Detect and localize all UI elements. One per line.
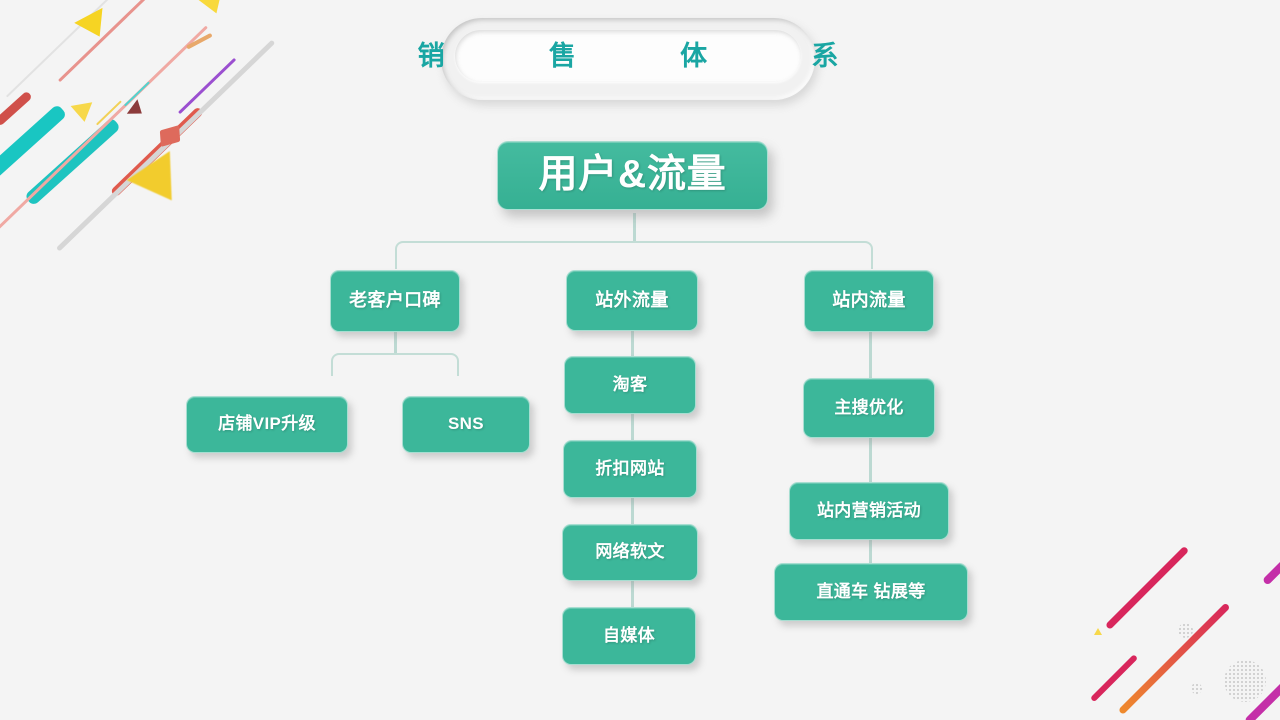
deco-stroke-red-1: [110, 106, 204, 197]
deco-stroke-red-short: [0, 91, 33, 127]
connector-mid-3: [631, 498, 634, 524]
deco-stroke-cyan-2: [24, 117, 121, 206]
node-store-vip-upgrade[interactable]: 店铺VIP升级: [186, 396, 348, 453]
deco-stroke-cyan-thin: [124, 81, 150, 106]
deco-stroke-pink-long-2: [58, 0, 190, 82]
node-sns[interactable]: SNS: [402, 396, 530, 453]
connector-branch1-bracket: [331, 353, 459, 376]
deco-stroke-crimson-1: [1105, 546, 1189, 630]
deco-stroke-magenta-2: [1244, 676, 1280, 720]
deco-stroke-pink-long-1: [0, 26, 208, 237]
deco-stroke-yellow-thin: [96, 100, 122, 125]
deco-triangle-yellow-br: [1094, 628, 1102, 635]
node-onsite-marketing-activities[interactable]: 站内营销活动: [789, 482, 949, 540]
deco-triangle-yellow-1: [74, 8, 114, 44]
node-label: 站外流量: [595, 290, 668, 311]
node-root[interactable]: 用户&流量: [497, 141, 768, 210]
deco-stroke-gray-long: [56, 40, 275, 252]
deco-dotted-circle-small: [1178, 623, 1193, 638]
node-label: 折扣网站: [595, 459, 664, 479]
title-inner-pill: 销 售 体 系: [455, 30, 801, 82]
deco-dotted-circle-tiny: [1191, 683, 1202, 694]
node-label: 站内营销活动: [817, 501, 921, 521]
node-label: 网络软文: [595, 542, 664, 562]
connector-branch1-stem: [394, 332, 397, 354]
deco-stroke-orange-thin: [186, 33, 213, 50]
connector-mid-2: [631, 414, 634, 440]
node-root-label: 用户&流量: [538, 152, 726, 198]
connector-right-3: [869, 540, 872, 564]
node-branch-onsite-traffic[interactable]: 站内流量: [804, 270, 934, 332]
deco-dotted-circle-large: [1224, 660, 1266, 702]
page-title: 销 售 体 系: [401, 43, 855, 70]
node-label: 淘客: [613, 375, 648, 395]
node-label: 店铺VIP升级: [218, 414, 316, 434]
node-label: SNS: [448, 414, 484, 434]
connector-right-1: [869, 332, 872, 378]
deco-triangle-yellow-large: [127, 151, 194, 215]
node-branch-old-customer-wom[interactable]: 老客户口碑: [330, 270, 460, 332]
deco-quad-red: [160, 125, 180, 147]
deco-stroke-cyan-1: [0, 104, 67, 179]
node-branch-offsite-traffic[interactable]: 站外流量: [566, 270, 698, 331]
connector-mid-4: [631, 581, 634, 607]
deco-stroke-purple: [178, 58, 236, 114]
node-self-media[interactable]: 自媒体: [562, 607, 696, 665]
deco-stroke-magenta: [1262, 549, 1280, 586]
connector-mid-1: [631, 331, 634, 357]
node-label: 老客户口碑: [349, 290, 441, 311]
connector-root-stem: [633, 213, 636, 242]
deco-triangle-yellow-3: [71, 102, 96, 124]
node-label: 自媒体: [603, 626, 655, 646]
page-title-pill: 销 售 体 系: [441, 18, 815, 100]
deco-stroke-gray-thin: [6, 0, 144, 97]
node-main-search-optimization[interactable]: 主搜优化: [803, 378, 935, 438]
deco-triangle-darkred: [127, 99, 147, 121]
node-taoke[interactable]: 淘客: [564, 356, 696, 414]
node-label: 直通车 钻展等: [816, 582, 925, 602]
deco-stroke-crimson-2: [1090, 654, 1138, 702]
node-online-soft-articles[interactable]: 网络软文: [562, 524, 698, 581]
connector-level1-bracket: [395, 241, 873, 269]
deco-triangle-yellow-2: [197, 0, 228, 18]
deco-stroke-orange-gradient: [1118, 603, 1230, 715]
node-label: 站内流量: [832, 290, 905, 311]
node-discount-websites[interactable]: 折扣网站: [563, 440, 697, 498]
node-label: 主搜优化: [834, 398, 903, 418]
connector-right-2: [869, 438, 872, 482]
node-zhitongche-zuanzhan[interactable]: 直通车 钻展等: [774, 563, 968, 621]
